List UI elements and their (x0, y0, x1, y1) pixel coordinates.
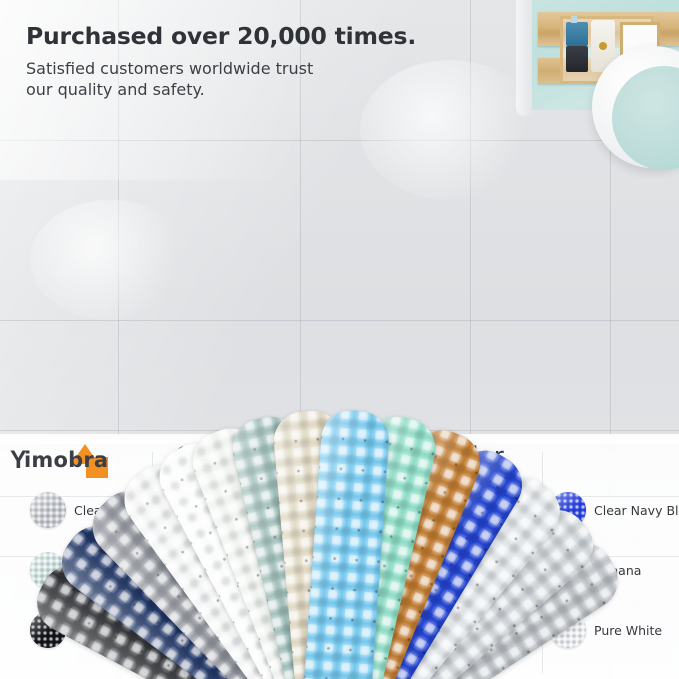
shampoo-bottle-blue (566, 22, 588, 46)
hero-subline-1: Satisfied customers worldwide trust (26, 59, 416, 78)
page-title: Purchased over 20,000 times. (26, 22, 416, 50)
hero-text-block: Purchased over 20,000 times. Satisfied c… (26, 22, 416, 99)
swatch-shine (30, 492, 66, 528)
bathtub-rim (516, 0, 532, 116)
color-label: Clear Navy Blue (594, 503, 679, 518)
shampoo-bottle-dark (566, 46, 588, 72)
hero-subline-2: our quality and safety. (26, 80, 416, 99)
product-infographic: Purchased over 20,000 times. Satisfied c… (0, 0, 679, 679)
hero-bathroom-scene: Purchased over 20,000 times. Satisfied c… (0, 0, 679, 679)
mat-color-fan (0, 120, 679, 450)
color-swatch[interactable] (30, 492, 66, 528)
color-label: Pure White (594, 623, 662, 638)
